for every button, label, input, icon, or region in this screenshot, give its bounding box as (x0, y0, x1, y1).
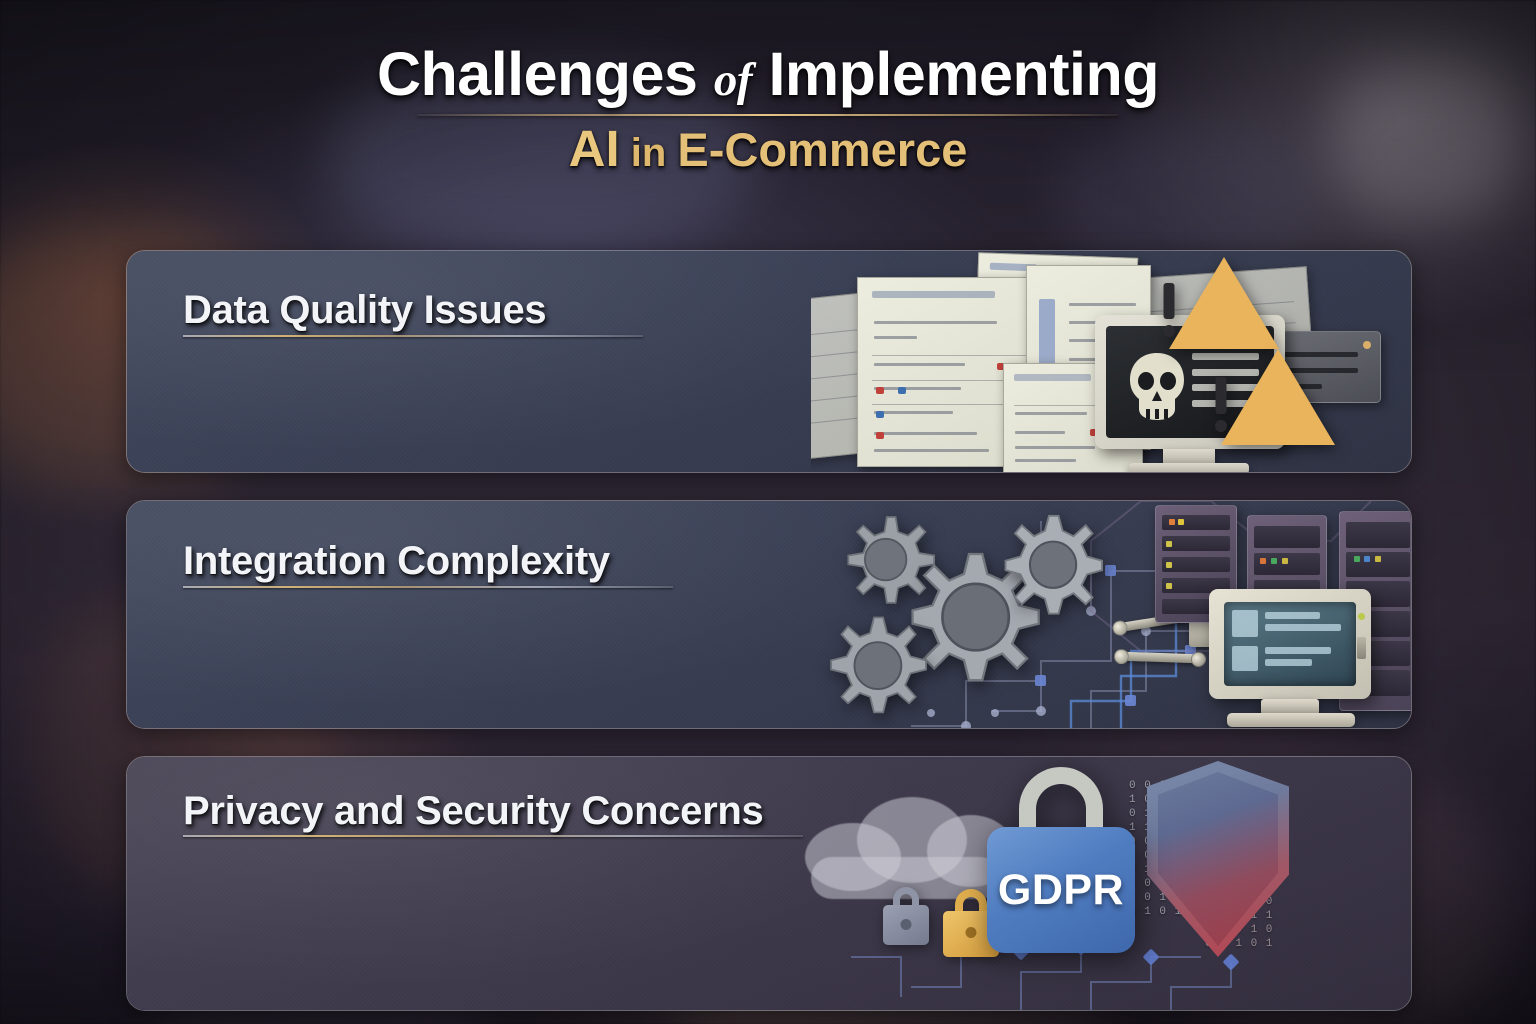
card-heading: Integration Complexity (183, 539, 610, 584)
card-heading-rule (183, 586, 673, 588)
title-text-italic-of: of (714, 54, 752, 106)
title-text-in: in (620, 131, 678, 175)
gdpr-label: GDPR (998, 866, 1124, 915)
illustration-integration-complexity (791, 501, 1411, 728)
crt-computer-icon (1209, 589, 1371, 699)
card-heading-rule (183, 835, 803, 837)
title-text-after: Implementing (752, 40, 1159, 108)
page-title: Challenges of Implementing AI in E-Comme… (0, 42, 1536, 179)
title-text-before: Challenges (377, 40, 714, 108)
title-divider-rule (417, 114, 1119, 116)
title-text-ecommerce: E-Commerce (677, 123, 967, 176)
challenge-card-privacy-security[interactable]: 0 0 0 0 0 0 1 0 1 1 0 1 0 1 0 0 1 0 1 1 … (126, 756, 1412, 1011)
title-text-ai: AI (569, 120, 620, 177)
gear-icon (981, 509, 1117, 645)
illustration-privacy-security: 0 0 0 0 0 0 1 0 1 1 0 1 0 1 0 0 1 0 1 1 … (791, 757, 1411, 1010)
challenge-card-integration-complexity[interactable]: Integration Complexity (126, 500, 1412, 729)
title-line-secondary: AI in E-Commerce (0, 120, 1536, 179)
padlock-small-gray-icon (883, 887, 929, 945)
card-heading: Data Quality Issues (183, 288, 546, 333)
title-line-primary: Challenges of Implementing (0, 42, 1536, 106)
gear-icon (809, 611, 939, 728)
challenge-card-data-quality[interactable]: Data Quality Issues (126, 250, 1412, 473)
illustration-data-quality (811, 251, 1411, 472)
padlock-gdpr-icon: GDPR (987, 767, 1135, 953)
card-heading: Privacy and Security Concerns (183, 789, 763, 834)
skull-icon (1126, 351, 1188, 423)
card-heading-rule (183, 335, 643, 337)
